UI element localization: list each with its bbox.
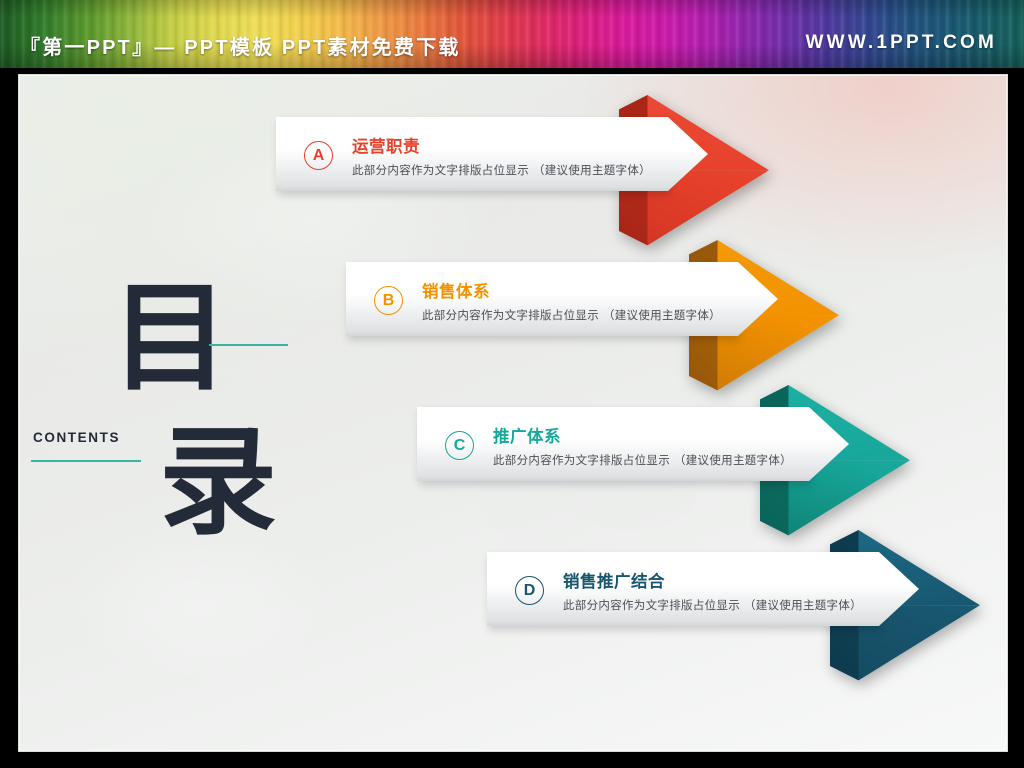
agenda-letter-badge: C [445,431,474,460]
agenda-row-description: 此部分内容作为文字排版占位显示 （建议使用主题字体） [563,597,862,613]
contents-char-mu: 目 [111,279,229,397]
contents-rule-bottom [31,460,141,462]
agenda-row-description: 此部分内容作为文字排版占位显示 （建议使用主题字体） [493,452,792,468]
agenda-row-description: 此部分内容作为文字排版占位显示 （建议使用主题字体） [422,307,721,323]
agenda-row-description: 此部分内容作为文字排版占位显示 （建议使用主题字体） [352,162,651,178]
agenda-row-title: 销售体系 [422,278,490,302]
agenda-letter-badge: B [374,286,403,315]
agenda-row-panel[interactable] [417,407,809,481]
agenda-row-panel[interactable] [346,262,738,336]
agenda-row[interactable]: B销售体系此部分内容作为文字排版占位显示 （建议使用主题字体） [346,240,849,358]
banner-website-url: WWW.1PPT.COM [806,32,997,54]
agenda-letter-badge: D [515,576,544,605]
agenda-row-panel[interactable] [487,552,879,626]
contents-label: CONTENTS [33,430,120,445]
agenda-row-panel[interactable] [276,117,668,191]
agenda-row-title: 销售推广结合 [563,568,665,592]
banner-title: 『第一PPT』— PPT模板 PPT素材免费下载 [20,31,461,60]
slide-canvas: 目 录 CONTENTS A运营职责此部分内容作为文字排版占位显示 （建议使用主… [18,74,1008,752]
agenda-letter-badge: A [304,141,333,170]
agenda-row[interactable]: A运营职责此部分内容作为文字排版占位显示 （建议使用主题字体） [276,95,779,213]
contents-rule-top [209,344,288,346]
site-banner: 『第一PPT』— PPT模板 PPT素材免费下载 WWW.1PPT.COM [0,0,1024,68]
agenda-row-title: 推广体系 [493,423,561,447]
contents-char-lu: 录 [159,423,277,541]
agenda-row[interactable]: C推广体系此部分内容作为文字排版占位显示 （建议使用主题字体） [417,385,920,503]
agenda-row-title: 运营职责 [352,133,420,157]
agenda-row[interactable]: D销售推广结合此部分内容作为文字排版占位显示 （建议使用主题字体） [487,530,990,648]
